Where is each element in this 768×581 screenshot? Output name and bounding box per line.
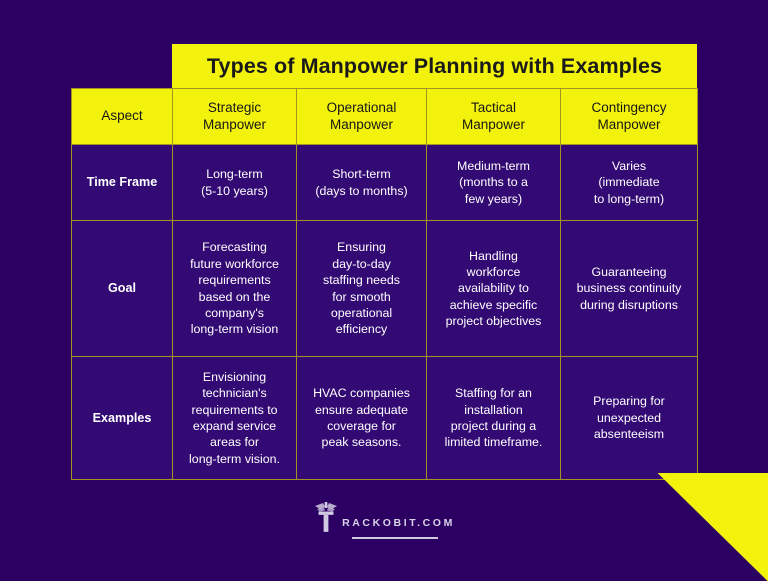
cell-line: long-term vision	[173, 321, 296, 337]
table-header: Aspect Strategic Manpower Operational Ma…	[72, 89, 698, 145]
cell-line: (immediate	[561, 174, 697, 190]
cell-line: requirements	[173, 272, 296, 288]
column-header-contingency-line-2: Manpower	[561, 117, 697, 134]
cell-line: for smooth	[297, 289, 426, 305]
footer-brand: RACKOBIT.COM	[0, 500, 768, 539]
cell-line: few years)	[427, 191, 560, 207]
cell-line: peak seasons.	[297, 434, 426, 450]
cell-line: during disruptions	[561, 297, 697, 313]
cell-line: Handling	[427, 248, 560, 264]
trackobit-t-logo-icon	[313, 500, 339, 534]
cell-line: ensure adequate	[297, 402, 426, 418]
column-header-aspect: Aspect	[72, 89, 173, 145]
cell-line: Staffing for an	[427, 385, 560, 401]
cell-line: Ensuring	[297, 239, 426, 255]
manpower-comparison-table: Aspect Strategic Manpower Operational Ma…	[71, 88, 698, 480]
cell-line: day-to-day	[297, 256, 426, 272]
title-banner: Types of Manpower Planning with Examples	[172, 44, 697, 88]
cell-line: project objectives	[427, 313, 560, 329]
cell-line: future workforce	[173, 256, 296, 272]
cell-line: to long-term)	[561, 191, 697, 207]
cell-line: staffing needs	[297, 272, 426, 288]
cell-line: Varies	[561, 158, 697, 174]
infographic-canvas: Types of Manpower Planning with Examples…	[0, 0, 768, 581]
column-header-tactical-manpower: Tactical Manpower	[427, 89, 561, 145]
cell-line: Envisioning	[173, 369, 296, 385]
cell-line: (months to a	[427, 174, 560, 190]
cell-examples-operational: HVAC companies ensure adequate coverage …	[297, 357, 427, 480]
cell-goal-strategic: Forecasting future workforce requirement…	[173, 221, 297, 357]
cell-line: Preparing for	[561, 393, 697, 409]
cell-line: based on the	[173, 289, 296, 305]
comparison-table-wrapper: Aspect Strategic Manpower Operational Ma…	[71, 88, 697, 480]
cell-line: (5-10 years)	[173, 183, 296, 199]
cell-line: Short-term	[297, 166, 426, 182]
cell-goal-tactical: Handling workforce availability to achie…	[427, 221, 561, 357]
table-row: Examples Envisioning technician's requir…	[72, 357, 698, 480]
row-label-goal: Goal	[72, 221, 173, 357]
logo-row: RACKOBIT.COM	[313, 500, 455, 534]
column-header-strategic-manpower: Strategic Manpower	[173, 89, 297, 145]
cell-line: areas for	[173, 434, 296, 450]
cell-line: achieve specific	[427, 297, 560, 313]
row-label-time-frame: Time Frame	[72, 145, 173, 221]
cell-time-frame-contingency: Varies (immediate to long-term)	[561, 145, 698, 221]
column-header-tactical-line-1: Tactical	[427, 100, 560, 117]
cell-line: efficiency	[297, 321, 426, 337]
cell-line: operational	[297, 305, 426, 321]
cell-line: Medium-term	[427, 158, 560, 174]
cell-line: technician's	[173, 385, 296, 401]
cell-line: absenteeism	[561, 426, 697, 442]
column-header-strategic-line-2: Manpower	[173, 117, 296, 134]
row-label-examples: Examples	[72, 357, 173, 480]
cell-line: limited timeframe.	[427, 434, 560, 450]
cell-line: company's	[173, 305, 296, 321]
cell-line: unexpected	[561, 410, 697, 426]
table-header-row: Aspect Strategic Manpower Operational Ma…	[72, 89, 698, 145]
brand-underline	[352, 537, 438, 539]
column-header-contingency-manpower: Contingency Manpower	[561, 89, 698, 145]
column-header-contingency-line-1: Contingency	[561, 100, 697, 117]
cell-time-frame-strategic: Long-term (5-10 years)	[173, 145, 297, 221]
cell-examples-contingency: Preparing for unexpected absenteeism	[561, 357, 698, 480]
cell-examples-tactical: Staffing for an installation project dur…	[427, 357, 561, 480]
cell-line: Long-term	[173, 166, 296, 182]
cell-line: long-term vision.	[173, 451, 296, 467]
cell-line: requirements to	[173, 402, 296, 418]
cell-goal-contingency: Guaranteeing business continuity during …	[561, 221, 698, 357]
cell-line: expand service	[173, 418, 296, 434]
cell-line: availability to	[427, 280, 560, 296]
cell-line: HVAC companies	[297, 385, 426, 401]
cell-time-frame-tactical: Medium-term (months to a few years)	[427, 145, 561, 221]
cell-line: Guaranteeing	[561, 264, 697, 280]
column-header-operational-line-1: Operational	[297, 100, 426, 117]
cell-line: Forecasting	[173, 239, 296, 255]
page-title: Types of Manpower Planning with Examples	[207, 54, 662, 79]
column-header-aspect-line-1: Aspect	[72, 108, 172, 125]
column-header-operational-line-2: Manpower	[297, 117, 426, 134]
column-header-operational-manpower: Operational Manpower	[297, 89, 427, 145]
cell-line: coverage for	[297, 418, 426, 434]
column-header-tactical-line-2: Manpower	[427, 117, 560, 134]
cell-line: workforce	[427, 264, 560, 280]
cell-line: (days to months)	[297, 183, 426, 199]
cell-line: installation	[427, 402, 560, 418]
cell-time-frame-operational: Short-term (days to months)	[297, 145, 427, 221]
table-body: Time Frame Long-term (5-10 years) Short-…	[72, 145, 698, 480]
cell-examples-strategic: Envisioning technician's requirements to…	[173, 357, 297, 480]
column-header-strategic-line-1: Strategic	[173, 100, 296, 117]
table-row: Time Frame Long-term (5-10 years) Short-…	[72, 145, 698, 221]
table-row: Goal Forecasting future workforce requir…	[72, 221, 698, 357]
cell-line: project during a	[427, 418, 560, 434]
brand-text: RACKOBIT.COM	[342, 517, 455, 534]
cell-line: business continuity	[561, 280, 697, 296]
cell-goal-operational: Ensuring day-to-day staffing needs for s…	[297, 221, 427, 357]
